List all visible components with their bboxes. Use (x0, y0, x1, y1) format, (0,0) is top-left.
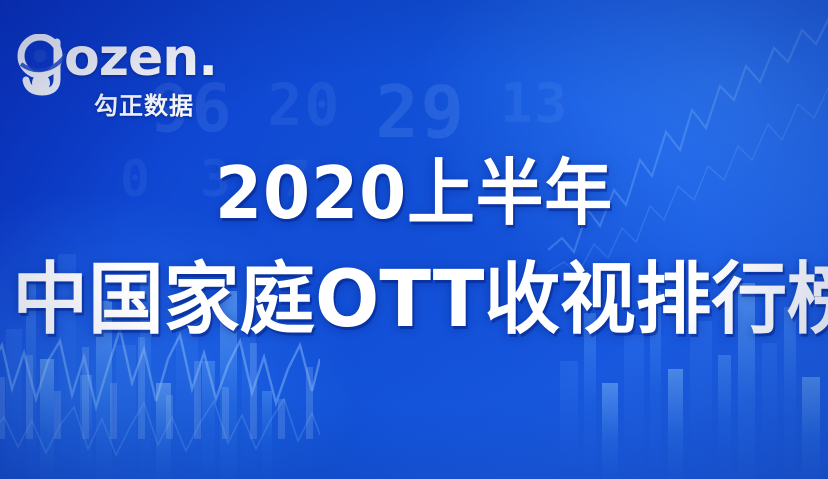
gozen-logo: ozen. 勾正数据 (12, 28, 202, 124)
ghost-digit-3: 29 (375, 78, 466, 146)
headline-block: 2020上半年 中国家庭OTT收视排行榜 (0, 150, 828, 348)
logo-subtitle: 勾正数据 (94, 86, 194, 121)
logo-wordmark-text: ozen. (64, 32, 217, 84)
ghost-digit-2: 20 (267, 78, 341, 133)
ghost-digit-4: 13 (500, 78, 569, 129)
headline-line-2: 中国家庭OTT收视排行榜 (12, 252, 815, 348)
ott-ranking-banner: 96 20 29 13 0 3 7 ozen. 勾正数据 2020上半年 中国家… (0, 0, 828, 479)
headline-line-1: 2020上半年 (25, 150, 803, 236)
